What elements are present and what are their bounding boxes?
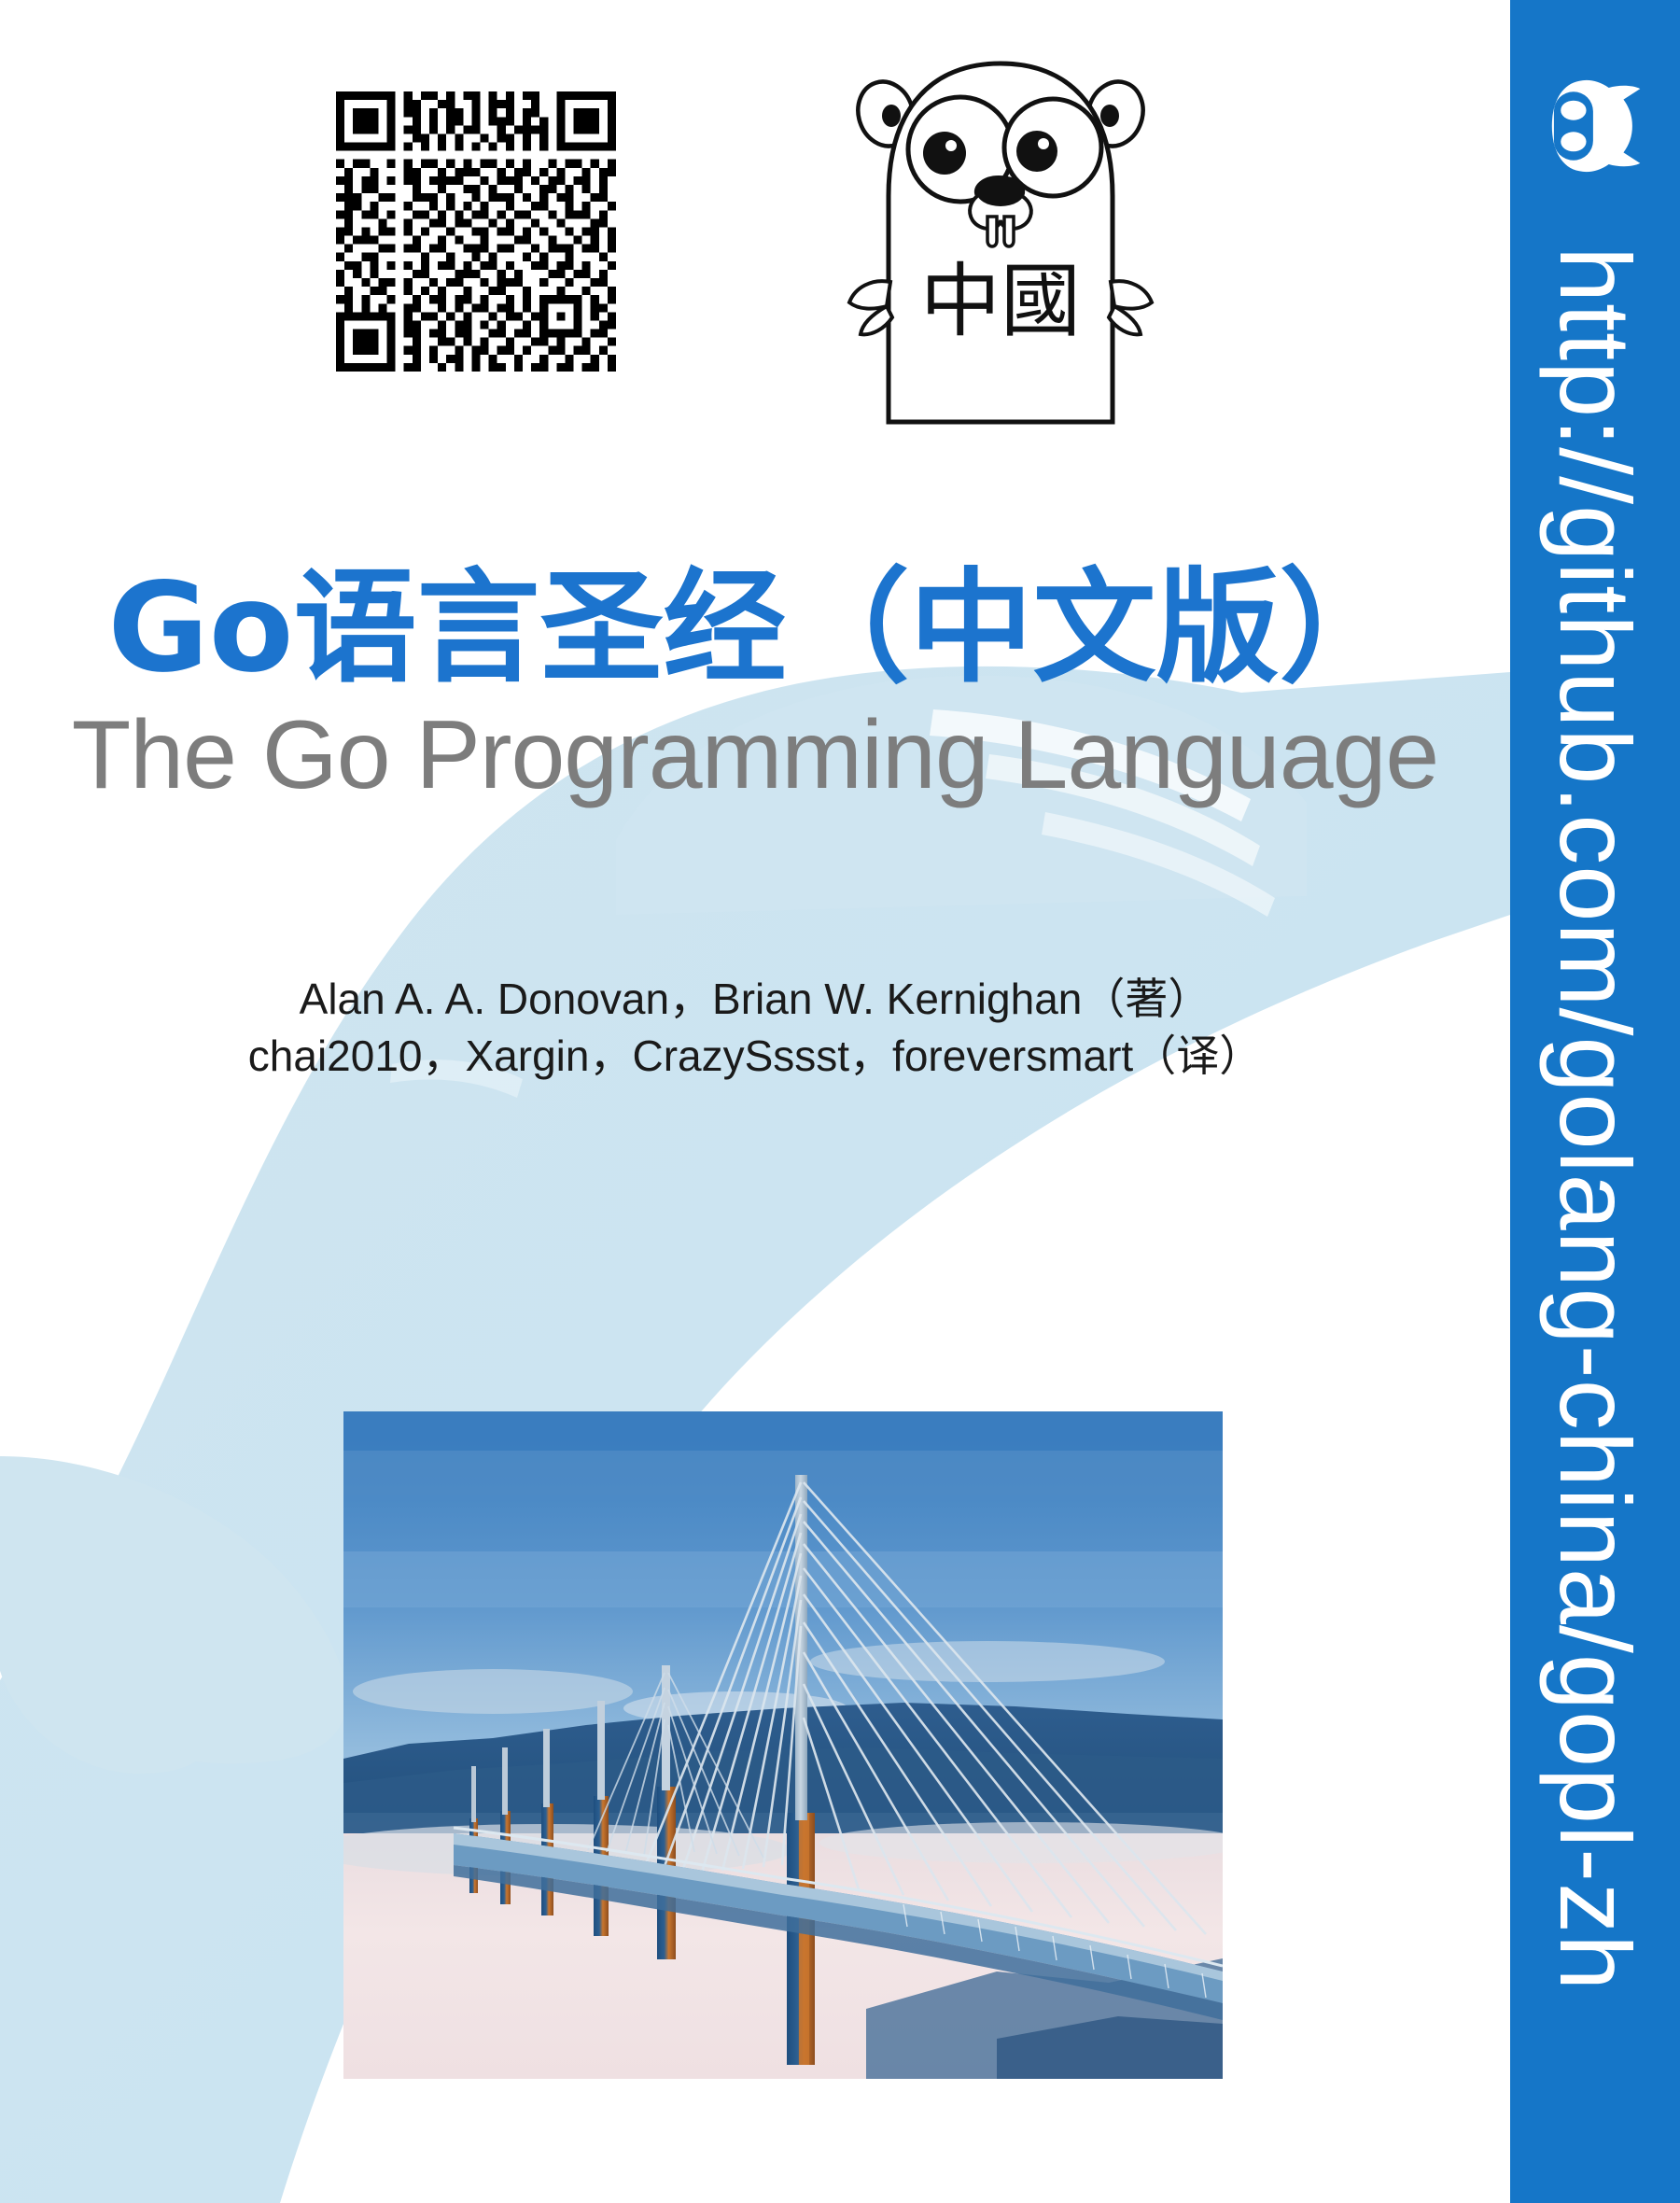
credits-block: Alan A. A. Donovan，Brian W. Kernighan（著）… [0, 971, 1510, 1084]
qr-code[interactable] [321, 91, 631, 372]
millau-viaduct-photo [343, 1411, 1223, 2079]
title-block: Go语言圣经（中文版） The Go Programming Language [0, 560, 1510, 808]
go-gopher-icon: 中國 [833, 37, 1169, 429]
book-title-english: The Go Programming Language [0, 702, 1510, 808]
authors-line: Alan A. A. Donovan，Brian W. Kernighan（著） [0, 971, 1510, 1028]
gopher-belly-text: 中國 [920, 255, 1081, 348]
translators-line: chai2010，Xargin，CrazySssst，foreversmart（… [0, 1028, 1510, 1085]
book-title-chinese: Go语言圣经（中文版） [0, 560, 1510, 698]
github-url-text[interactable]: http://github.com/golang-china/gopl-zh [1510, 0, 1680, 2203]
book-cover: 中國 Go语言圣经（中文版） The Go Programming Langua… [0, 0, 1680, 2203]
github-sidebar: http://github.com/golang-china/gopl-zh [1510, 0, 1680, 2203]
